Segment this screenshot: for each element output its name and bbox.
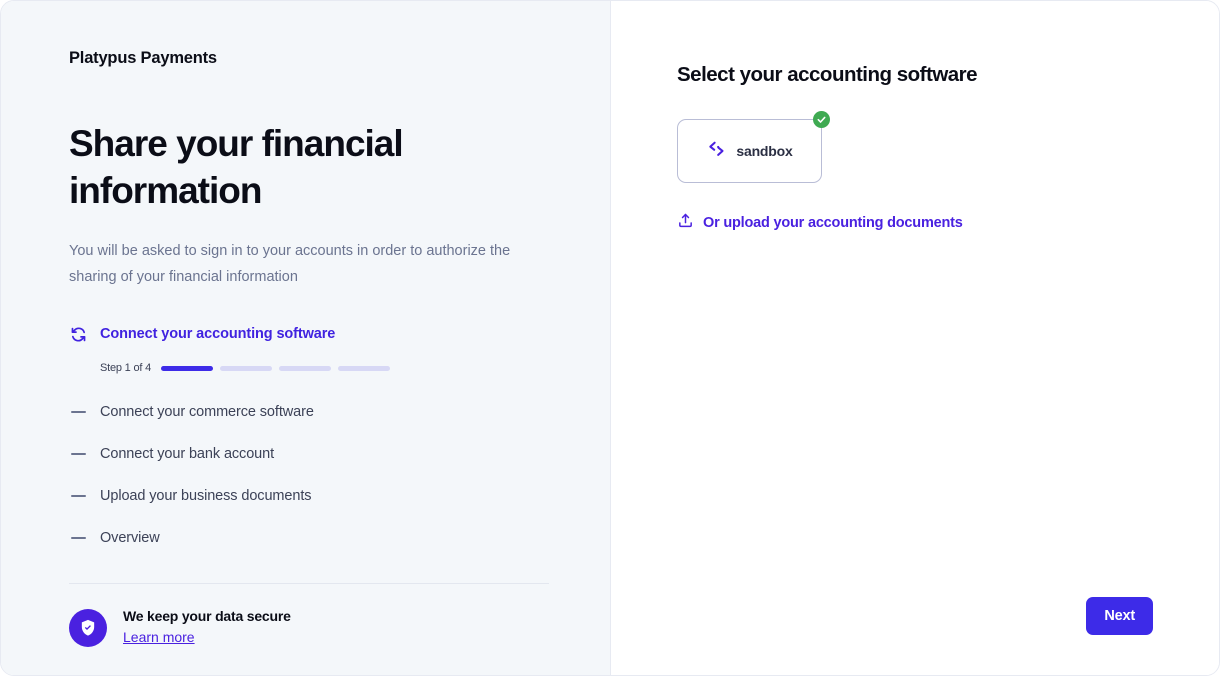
shield-check-icon	[69, 609, 107, 647]
software-option-label: sandbox	[736, 143, 792, 159]
brand-title: Platypus Payments	[69, 49, 548, 68]
check-circle-icon	[813, 111, 830, 128]
upload-documents-link[interactable]: Or upload your accounting documents	[677, 212, 963, 234]
step-label: Connect your commerce software	[100, 404, 314, 420]
section-title: Select your accounting software	[677, 63, 1153, 87]
dash-icon	[69, 445, 87, 463]
divider	[69, 583, 549, 584]
software-option-sandbox[interactable]: sandbox	[677, 119, 822, 183]
learn-more-link[interactable]: Learn more	[123, 629, 195, 645]
step-item-overview[interactable]: Overview	[69, 524, 548, 552]
progress-text: Step 1 of 4	[100, 362, 151, 374]
dash-icon	[69, 529, 87, 547]
step-item-upload-business-documents[interactable]: Upload your business documents	[69, 482, 548, 510]
step-label: Overview	[100, 530, 160, 546]
progress-segment-2	[220, 366, 272, 371]
step-item-connect-bank-account[interactable]: Connect your bank account	[69, 440, 548, 468]
secure-title: We keep your data secure	[123, 608, 291, 624]
progress-segments	[161, 366, 390, 371]
data-security-notice: We keep your data secure Learn more	[69, 608, 548, 647]
step-list: Connect your accounting software Step 1 …	[69, 320, 548, 552]
progress-segment-1	[161, 366, 213, 371]
progress-segment-3	[279, 366, 331, 371]
step-item-connect-accounting-software[interactable]: Connect your accounting software	[69, 320, 548, 348]
dash-icon	[69, 403, 87, 421]
onboarding-card: Platypus Payments Share your financial i…	[0, 0, 1220, 676]
software-options: sandbox	[677, 119, 1153, 183]
step-label-active: Connect your accounting software	[100, 326, 335, 342]
step-item-connect-commerce-software[interactable]: Connect your commerce software	[69, 398, 548, 426]
next-button[interactable]: Next	[1086, 597, 1153, 635]
step-progress: Step 1 of 4	[100, 362, 548, 374]
code-brackets-icon	[706, 138, 728, 165]
step-label: Connect your bank account	[100, 446, 274, 462]
left-panel: Platypus Payments Share your financial i…	[1, 1, 611, 675]
dash-icon	[69, 487, 87, 505]
page-title: Share your financial information	[69, 120, 469, 214]
sync-icon	[69, 325, 87, 343]
upload-icon	[677, 212, 694, 234]
right-panel: Select your accounting software sandbox	[611, 1, 1219, 675]
upload-documents-label: Or upload your accounting documents	[703, 215, 963, 231]
progress-segment-4	[338, 366, 390, 371]
step-label: Upload your business documents	[100, 488, 311, 504]
page-subtext: You will be asked to sign in to your acc…	[69, 238, 548, 290]
